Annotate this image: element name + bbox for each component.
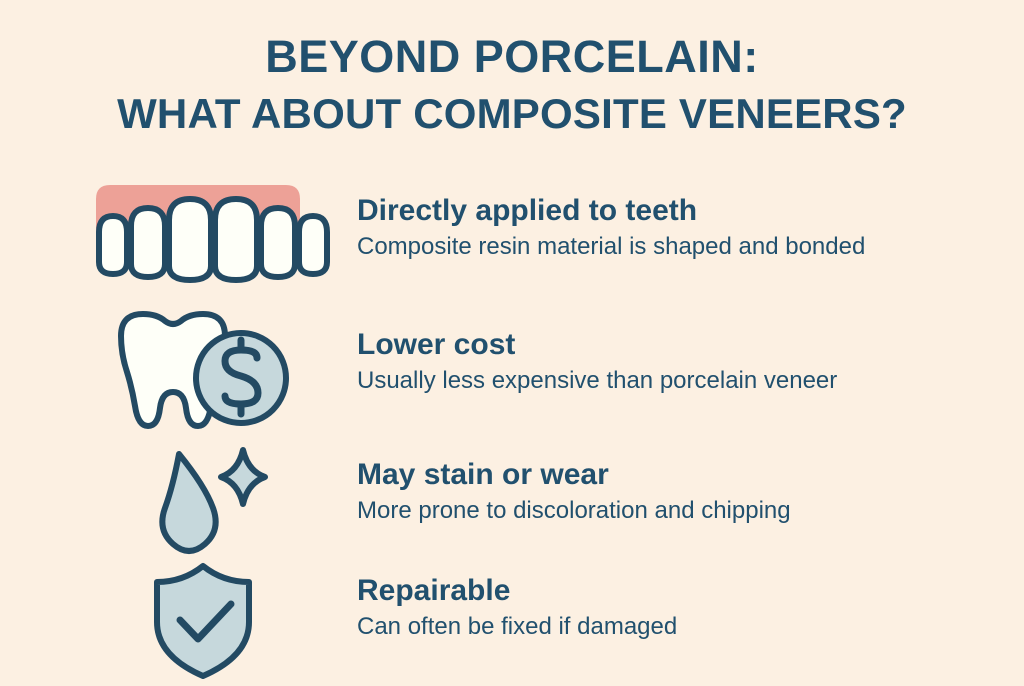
page-title: BEYOND PORCELAIN: WHAT ABOUT COMPOSITE V…	[0, 28, 1024, 142]
feature-row: Repairable Can often be fixed if damaged	[0, 556, 1024, 686]
water-drop-sparkle-icon	[85, 440, 335, 570]
tooth-dollar-coin-icon	[85, 306, 335, 436]
feature-row: Directly applied to teeth Composite resi…	[0, 176, 1024, 306]
feature-text: Directly applied to teeth Composite resi…	[357, 192, 997, 264]
title-line-2: WHAT ABOUT COMPOSITE VENEERS?	[0, 86, 1024, 142]
infographic-page: { "title": { "line1": "BEYOND PORCELAIN:…	[0, 0, 1024, 683]
feature-row: Lower cost Usually less expensive than p…	[0, 306, 1024, 436]
feature-text: Repairable Can often be fixed if damaged	[357, 572, 997, 644]
feature-heading: Directly applied to teeth	[357, 192, 997, 230]
feature-subtext: Usually less expensive than porcelain ve…	[357, 364, 997, 398]
feature-subtext: More prone to discoloration and chipping	[357, 494, 997, 528]
feature-subtext: Composite resin material is shaped and b…	[357, 230, 997, 264]
teeth-gums-icon	[85, 176, 335, 306]
feature-heading: May stain or wear	[357, 456, 997, 494]
feature-text: Lower cost Usually less expensive than p…	[357, 326, 997, 398]
feature-row: May stain or wear More prone to discolor…	[0, 440, 1024, 570]
feature-subtext: Can often be fixed if damaged	[357, 610, 997, 644]
title-line-1: BEYOND PORCELAIN:	[0, 28, 1024, 86]
feature-heading: Lower cost	[357, 326, 997, 364]
feature-text: May stain or wear More prone to discolor…	[357, 456, 997, 528]
feature-heading: Repairable	[357, 572, 997, 610]
shield-check-icon	[85, 556, 335, 686]
